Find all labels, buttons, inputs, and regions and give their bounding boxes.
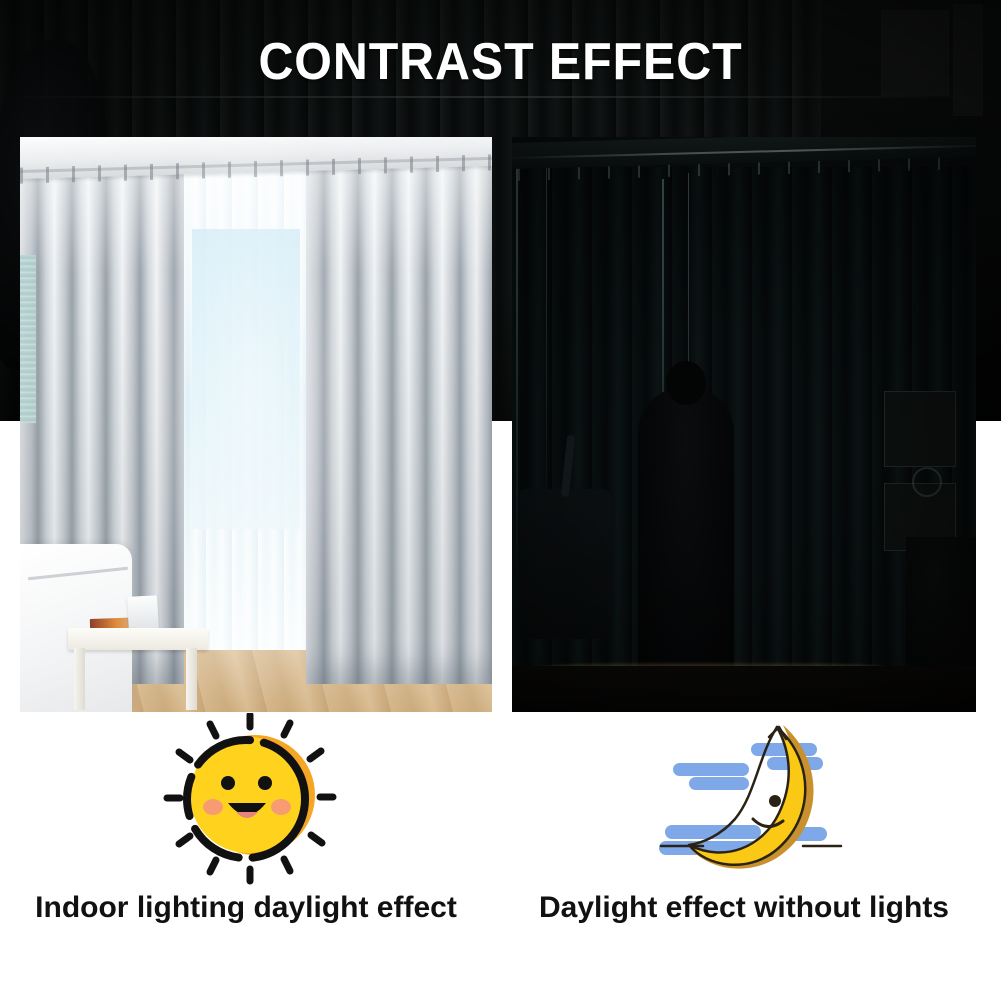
sun-cheek-left (203, 799, 223, 815)
left-photo-side-table (68, 612, 208, 708)
caption-indoor-lighting: Indoor lighting daylight effect (0, 893, 492, 923)
left-photo-tiled-wall (20, 255, 36, 423)
left-photo-window (192, 229, 300, 529)
sun-eye-right (258, 776, 272, 790)
photo-indoor-lighting (20, 137, 492, 712)
caption-without-lights: Daylight effect without lights (512, 893, 976, 923)
left-photo-table-top (68, 628, 208, 650)
left-photo-curtain-panel (306, 157, 492, 684)
photo-no-lighting (512, 137, 976, 712)
sun-eye-left (221, 776, 235, 790)
right-photo-vignette (512, 137, 976, 712)
sun-icon (160, 713, 340, 885)
left-photo-table-leg (186, 648, 197, 710)
product-comparison-graphic: CONTRAST EFFECT (0, 0, 1001, 1001)
left-photo-table-leg (74, 648, 85, 710)
moon-eye (769, 795, 781, 807)
moon-icon (655, 715, 845, 885)
sun-cheek-right (271, 799, 291, 815)
page-title: CONTRAST EFFECT (35, 36, 966, 88)
